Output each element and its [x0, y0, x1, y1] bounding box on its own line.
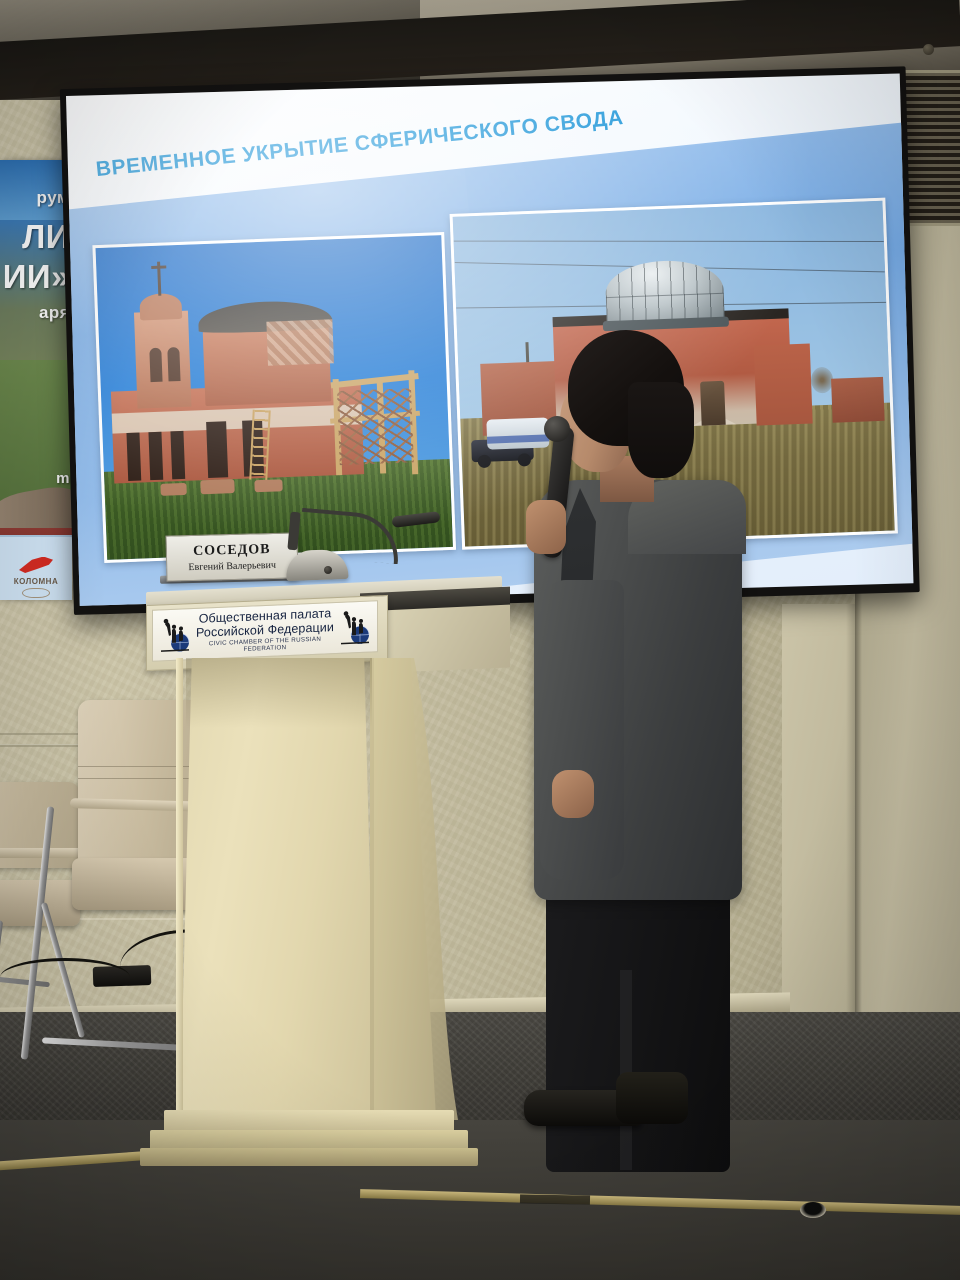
- civic-chamber-emblem-icon: [338, 608, 372, 647]
- projection-screen: ВРЕМЕННОЕ УКРЫТИЕ СФЕРИЧЕСКОГО СВОДА: [66, 73, 913, 605]
- lectern-inner-shadow: [186, 658, 372, 728]
- banner-text-fragment: m: [56, 470, 70, 487]
- plaque-text: Общественная палата Российской Федерации…: [192, 606, 338, 656]
- arm: [540, 580, 624, 880]
- conference-hall-photo: рум ЛИ ИИ» аря m КОЛОМНА ВРЕМЕННОЕ УКРЫТ…: [0, 0, 960, 1280]
- village-house: [831, 377, 885, 423]
- banner-text-fragment: ИИ»: [3, 258, 70, 296]
- lectern-curved-edge: [374, 658, 458, 1120]
- hand-holding-microphone: [526, 500, 566, 554]
- slide-surface: ВРЕМЕННОЕ УКРЫТИЕ СФЕРИЧЕСКОГО СВОДА: [66, 73, 913, 605]
- hand: [552, 770, 594, 818]
- logo-name: КОЛОМНА: [14, 577, 58, 586]
- hair-back: [628, 382, 694, 478]
- floor-cable: [0, 958, 130, 997]
- church-window: [170, 431, 185, 479]
- lectern-plaque: Общественная палата Российской Федерации…: [152, 600, 378, 661]
- logo-underline: [22, 588, 50, 598]
- church-window: [126, 433, 141, 481]
- speaker-person: [508, 330, 758, 1160]
- bird-mark-icon: [19, 557, 53, 575]
- temporary-spherical-dome-cover: [605, 259, 725, 325]
- cross-icon: [157, 262, 161, 296]
- floor-socket: [800, 1202, 826, 1218]
- microphone-grille-icon: [544, 416, 570, 442]
- bell-opening: [149, 348, 162, 382]
- kolomna-logo: КОЛОМНА: [0, 535, 72, 600]
- leg-separation: [620, 970, 632, 1170]
- speaker-nameplate: СОСЕДОВ Евгений Валерьевич: [165, 532, 298, 581]
- floor-tape-marker: [520, 1194, 590, 1204]
- trousers: [546, 882, 730, 1172]
- rubble: [200, 479, 235, 494]
- church-window: [148, 432, 163, 480]
- rubble: [160, 483, 186, 496]
- shoe: [616, 1072, 688, 1124]
- lectern-base-step: [140, 1148, 478, 1166]
- civic-chamber-emblem-icon: [158, 615, 192, 654]
- rubble: [254, 479, 282, 492]
- church-window: [206, 421, 228, 478]
- lectern-left-edge: [176, 658, 183, 1120]
- bell-opening: [167, 347, 180, 381]
- slide-photo-before: [92, 232, 456, 563]
- lectern: Общественная палата Российской Федерации…: [146, 584, 502, 1174]
- scaffold-mesh: [337, 388, 414, 465]
- vent-screw: [923, 44, 934, 55]
- bell-tower: [134, 311, 192, 409]
- event-banner: рум ЛИ ИИ» аря m КОЛОМНА: [0, 160, 72, 600]
- damaged-masonry: [266, 319, 334, 365]
- nameplate-given-name: Евгений Валерьевич: [188, 559, 276, 572]
- nameplate-surname: СОСЕДОВ: [193, 542, 271, 560]
- church-apse: [754, 344, 813, 426]
- microphone-indicator: [324, 566, 332, 574]
- ladder: [249, 410, 270, 481]
- bell-tower-cupola: [139, 293, 182, 321]
